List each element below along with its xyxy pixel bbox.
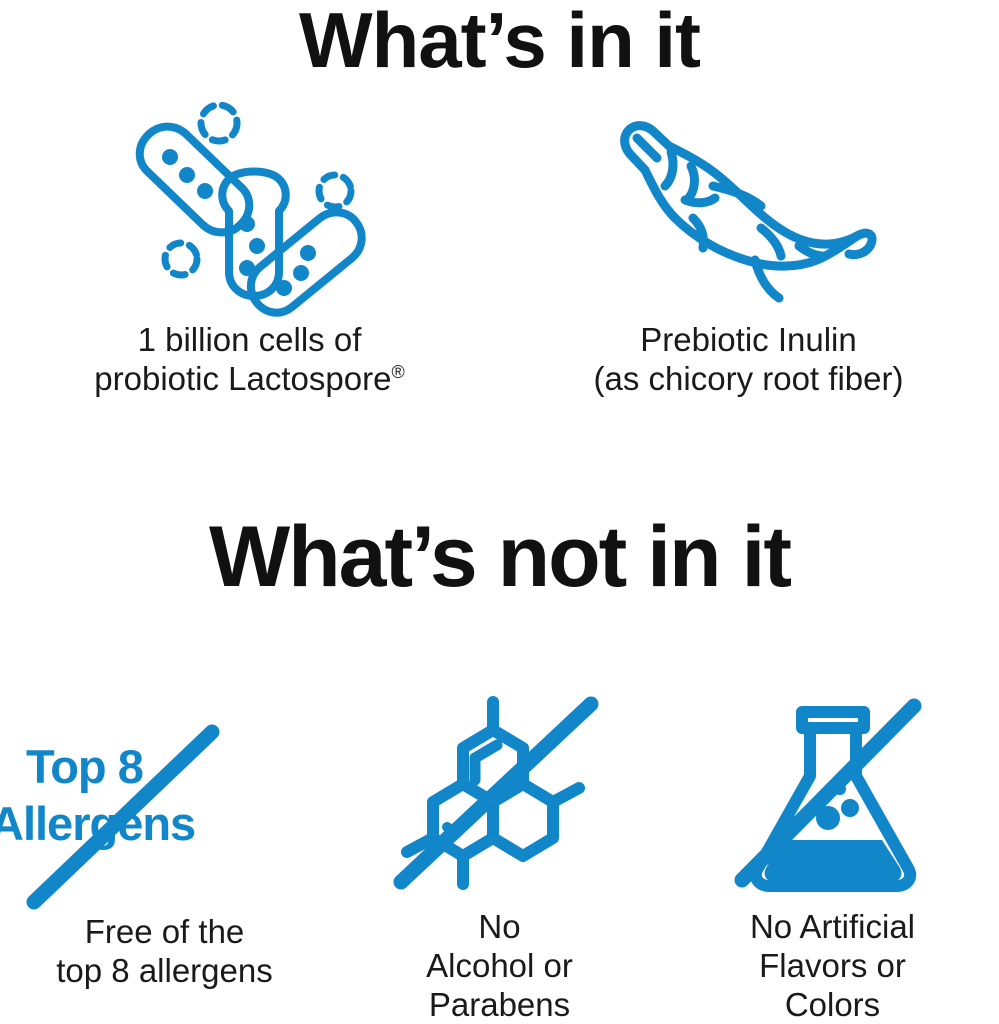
caption-line: Alcohol or: [426, 946, 573, 985]
caption-line: Flavors or: [750, 946, 915, 985]
strike-through-slash-icon: [0, 690, 331, 912]
exclusion-item-allergens: Top 8 Allergens Free of the top 8 allerg…: [0, 690, 331, 1024]
crossed-out-flask-icon: [666, 690, 999, 907]
infographic-page: What’s in it: [0, 0, 999, 1024]
chicory-root-icon: [609, 95, 889, 320]
ingredient-item-probiotic: 1 billion cells of probiotic Lactospore®: [0, 95, 499, 405]
caption-line: Parabens: [426, 985, 573, 1024]
caption-line: top 8 allergens: [56, 951, 272, 990]
caption-line: Prebiotic Inulin: [594, 320, 904, 359]
ingredient-item-inulin: Prebiotic Inulin (as chicory root fiber): [499, 95, 998, 405]
probiotic-bacteria-icon: [115, 95, 385, 320]
page-title-whats-in-it: What’s in it: [0, 0, 999, 88]
whats-not-in-it-row: Top 8 Allergens Free of the top 8 allerg…: [0, 690, 999, 1024]
exclusion-caption-alcohol-parabens: No Alcohol or Parabens: [426, 907, 573, 1024]
caption-text: probiotic Lactospore: [94, 360, 391, 397]
ingredient-caption-probiotic: 1 billion cells of probiotic Lactospore®: [94, 320, 404, 398]
exclusion-caption-artificial-flavors-colors: No Artificial Flavors or Colors: [750, 907, 915, 1024]
caption-line: 1 billion cells of: [94, 320, 404, 359]
exclusion-item-artificial-flavors-colors: No Artificial Flavors or Colors: [666, 690, 999, 1024]
whats-in-it-row: 1 billion cells of probiotic Lactospore®: [0, 95, 999, 405]
page-title-whats-not-in-it: What’s not in it: [0, 505, 999, 609]
ingredient-caption-inulin: Prebiotic Inulin (as chicory root fiber): [594, 320, 904, 398]
caption-line: No: [426, 907, 573, 946]
crossed-out-molecule-icon: [333, 690, 666, 907]
caption-line: Colors: [750, 985, 915, 1024]
caption-line: Free of the: [56, 912, 272, 951]
registered-trademark-symbol: ®: [391, 362, 404, 382]
exclusion-item-alcohol-parabens: No Alcohol or Parabens: [333, 690, 666, 1024]
exclusion-caption-allergens: Free of the top 8 allergens: [56, 912, 272, 990]
caption-line: probiotic Lactospore®: [94, 359, 404, 398]
caption-line: No Artificial: [750, 907, 915, 946]
allergen-wordmark-crossed: Top 8 Allergens: [0, 690, 331, 912]
crossed-out-top-8-allergens-icon: Top 8 Allergens: [0, 690, 331, 912]
caption-line: (as chicory root fiber): [594, 359, 904, 398]
